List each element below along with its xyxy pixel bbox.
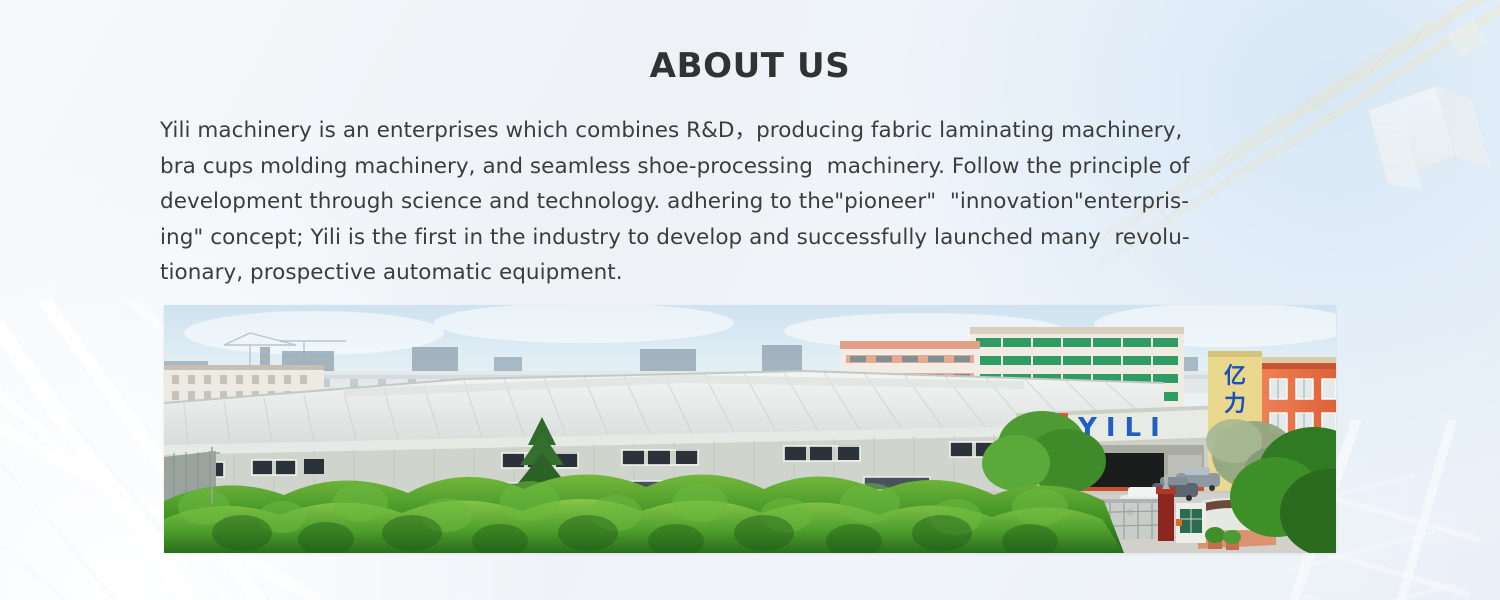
yili-sign-chinese-bottom: 力	[1224, 392, 1246, 417]
factory-photo-illustration: A 亿力 YILI 亿 力	[164, 305, 1336, 553]
guard-booth	[1176, 503, 1206, 543]
factory-photo: A 亿力 YILI 亿 力	[164, 305, 1336, 553]
about-us-page: ABOUT US Yili machinery is an enterprise…	[0, 0, 1500, 600]
page-title: ABOUT US	[0, 46, 1500, 86]
about-us-paragraph: Yili machinery is an enterprises which c…	[160, 113, 1350, 291]
yili-sign-chinese-top: 亿	[1224, 364, 1246, 389]
